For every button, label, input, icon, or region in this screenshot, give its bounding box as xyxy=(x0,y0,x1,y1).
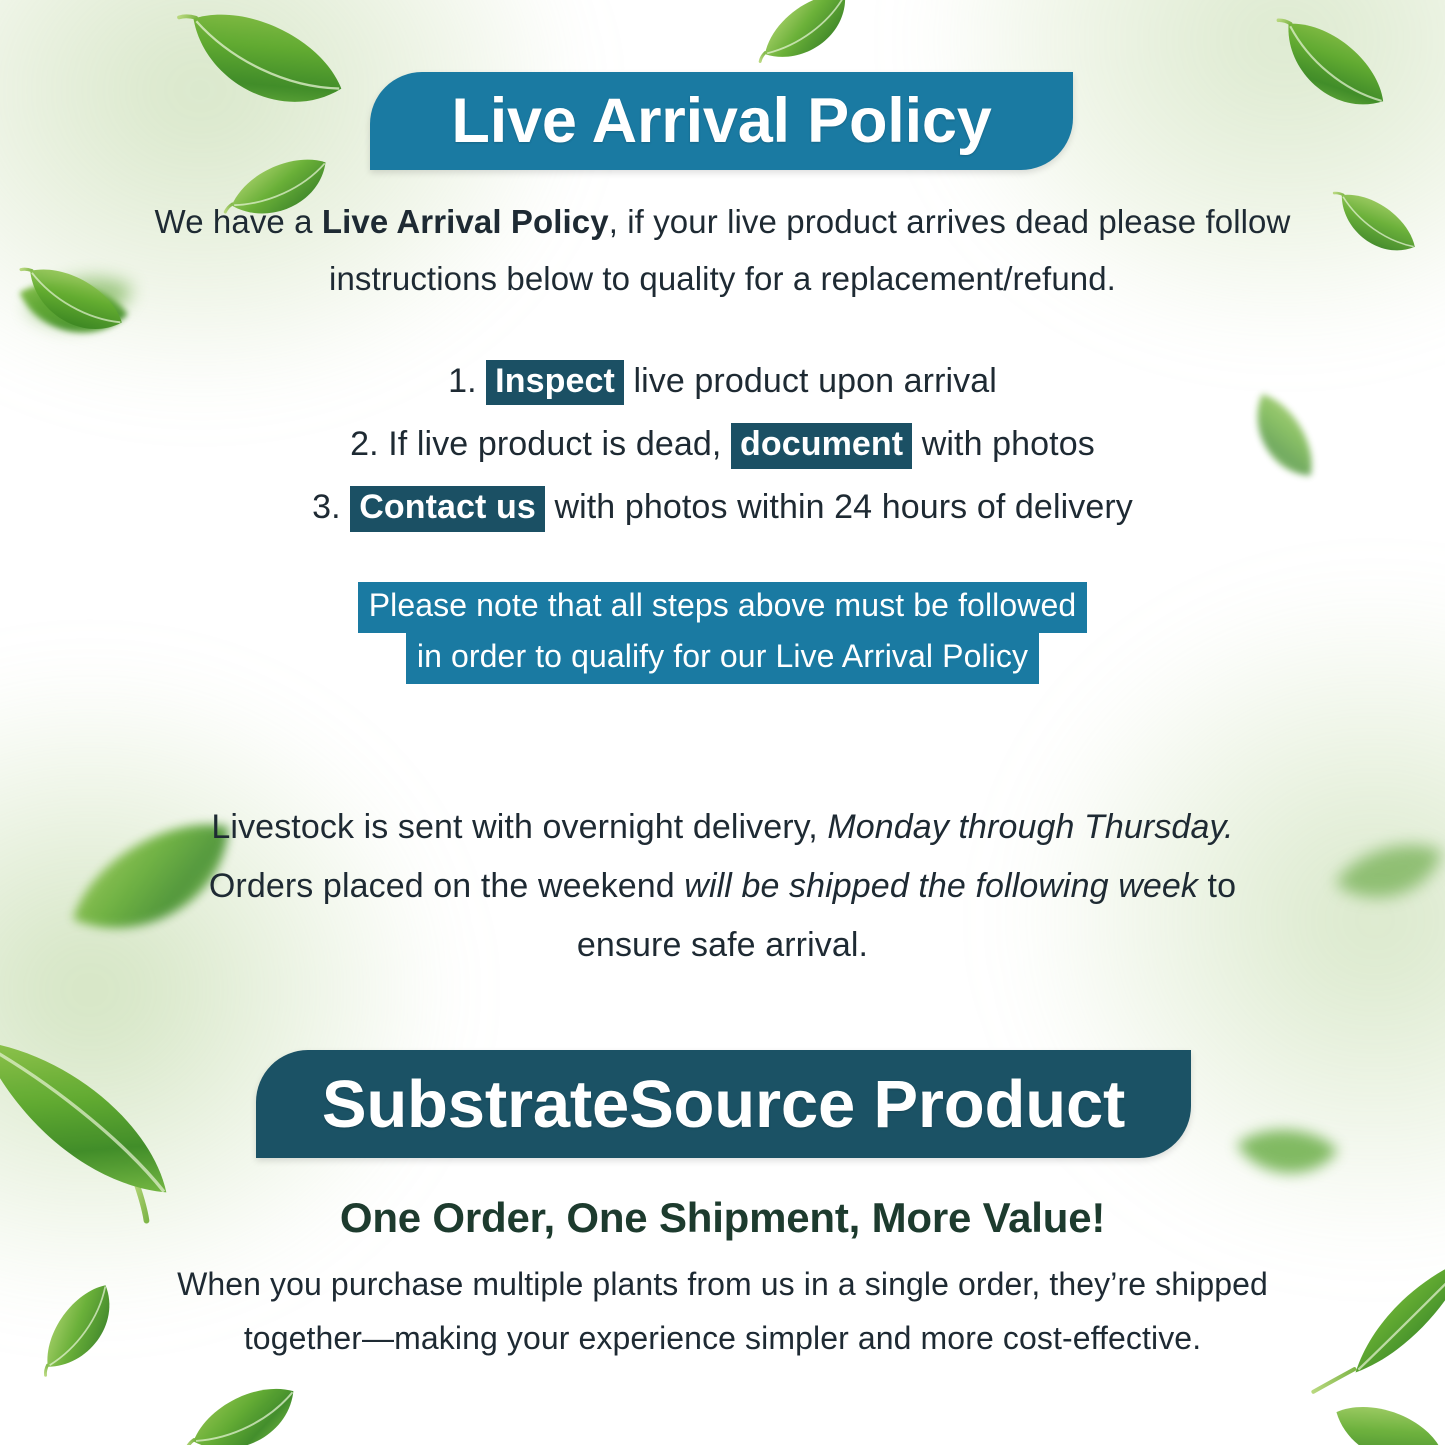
shipping-line1-plain: Livestock is sent with overnight deliver… xyxy=(211,808,827,846)
step-number-2: 2. xyxy=(350,413,379,476)
note-line-1: Please note that all steps above must be… xyxy=(358,582,1088,633)
live-arrival-policy-title: Live Arrival Policy xyxy=(451,85,991,157)
step-after-2: with photos xyxy=(922,425,1095,463)
shipping-line1-italic: Monday through Thursday. xyxy=(827,808,1233,846)
policy-note-block: Please note that all steps above must be… xyxy=(150,582,1295,684)
value-proposition-heading: One Order, One Shipment, More Value! xyxy=(150,1194,1295,1242)
value-proposition-paragraph: When you purchase multiple plants from u… xyxy=(150,1258,1295,1366)
step-number-1: 1. xyxy=(448,350,477,413)
step-chip-contact-us[interactable]: Contact us xyxy=(350,486,545,531)
substratesource-product-title: SubstrateSource Product xyxy=(322,1066,1125,1143)
note-line-2: in order to qualify for our Live Arrival… xyxy=(406,633,1039,684)
intro-paragraph: We have a Live Arrival Policy, if your l… xyxy=(150,194,1295,308)
shipping-line2-italic: will be shipped the following week xyxy=(684,867,1198,905)
step-number-3: 3. xyxy=(312,476,341,539)
step-after-1: live product upon arrival xyxy=(633,362,996,400)
step-item-1: 1. Inspect live product upon arrival xyxy=(150,350,1295,413)
note-line-2-wrapper: in order to qualify for our Live Arrival… xyxy=(150,633,1295,684)
step-chip-inspect: Inspect xyxy=(486,360,624,405)
note-line-1-wrapper: Please note that all steps above must be… xyxy=(150,582,1295,633)
substratesource-product-banner: SubstrateSource Product xyxy=(256,1050,1191,1158)
policy-graphic: Live Arrival Policy We have a Live Arriv… xyxy=(0,0,1445,1445)
intro-bold-text: Live Arrival Policy xyxy=(322,203,609,240)
step-item-2: 2. If live product is dead, document wit… xyxy=(150,413,1295,476)
live-arrival-policy-banner: Live Arrival Policy xyxy=(370,72,1073,170)
steps-list: 1. Inspect live product upon arrival 2. … xyxy=(150,350,1295,540)
step-item-3: 3. Contact us with photos within 24 hour… xyxy=(150,476,1295,539)
shipping-line2-plain: Orders placed on the weekend xyxy=(209,867,684,905)
step-before-2: If live product is dead, xyxy=(388,425,721,463)
step-after-3: with photos within 24 hours of delivery xyxy=(554,488,1132,526)
intro-lead-text: We have a xyxy=(155,203,322,240)
shipping-schedule-paragraph: Livestock is sent with overnight deliver… xyxy=(160,798,1285,975)
step-chip-document: document xyxy=(731,423,912,468)
